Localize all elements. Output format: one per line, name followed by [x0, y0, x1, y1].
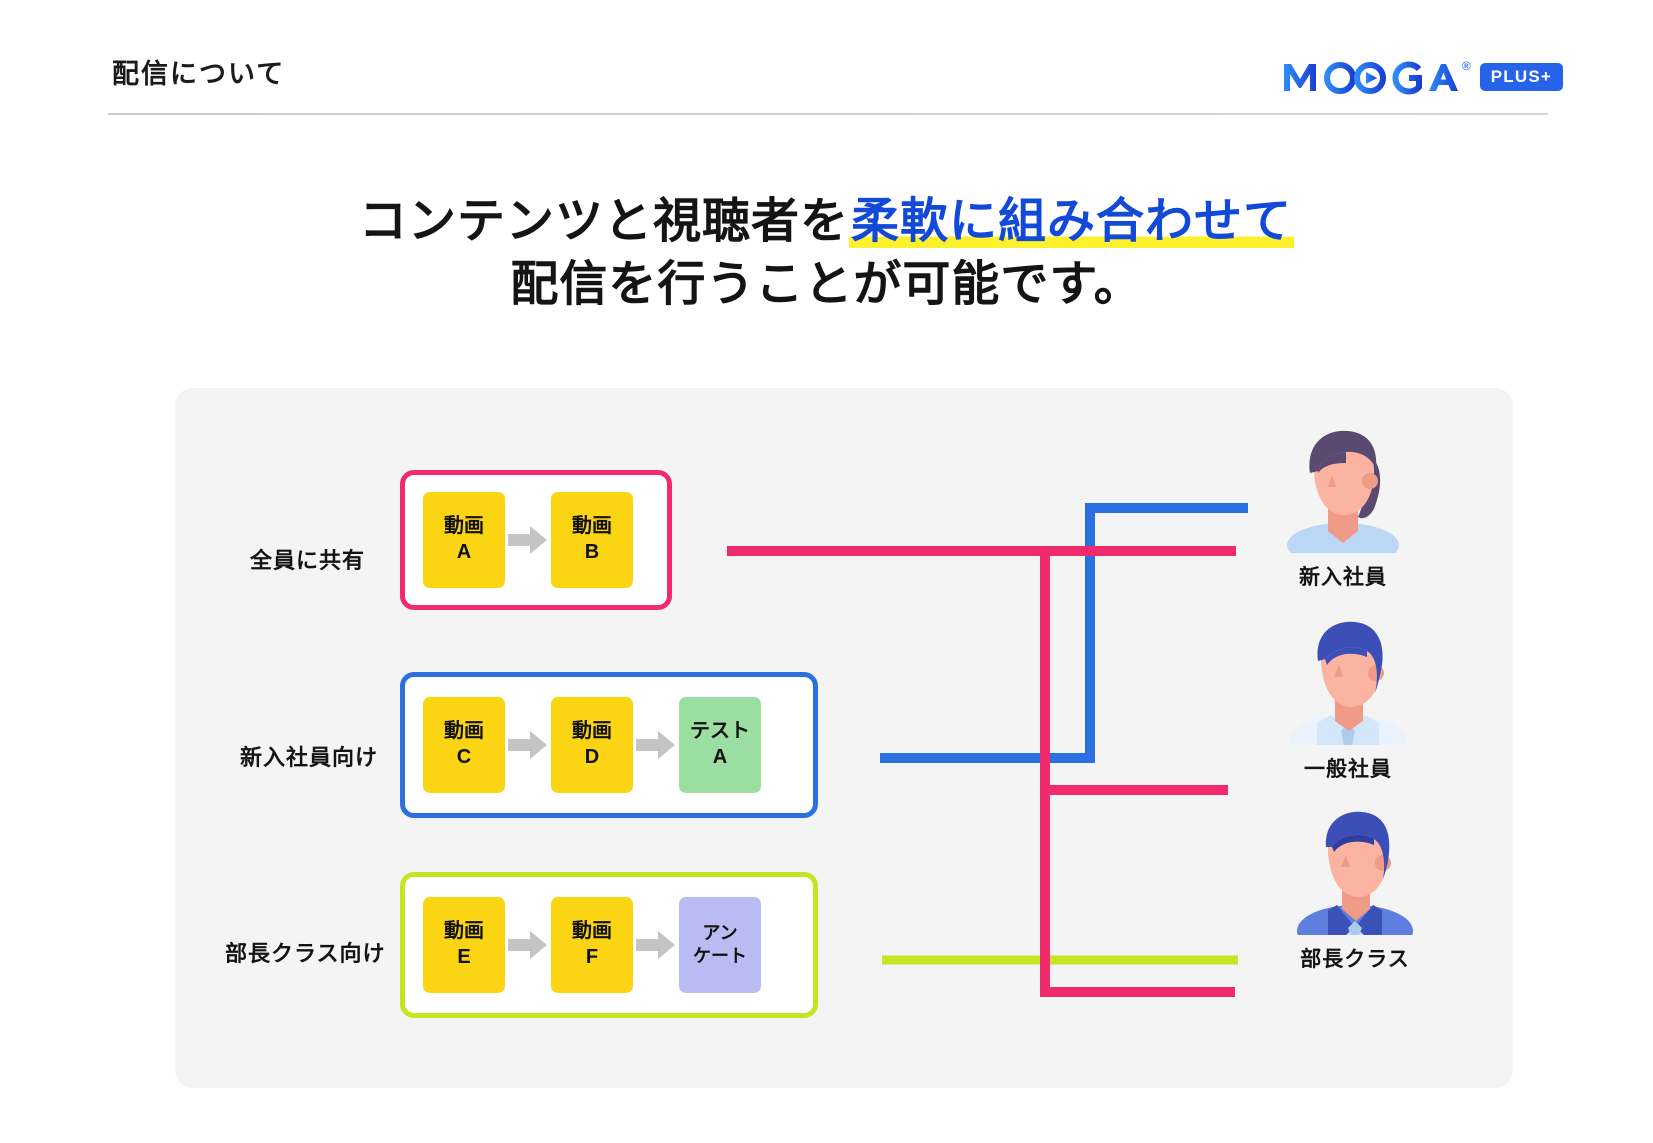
flow-node-line1: 動画	[572, 515, 612, 539]
male-shirt-tie-avatar-icon	[1283, 617, 1413, 745]
flow-node-video-f[interactable]: 動画 F	[551, 897, 633, 993]
flow-node-line1: 動画	[572, 920, 612, 944]
flow-node-line1: 動画	[444, 720, 484, 744]
flow-node-line2: F	[586, 946, 598, 970]
heading-line-1-highlight: 柔軟に組み合わせて	[849, 195, 1294, 248]
flow-node-line2: E	[457, 946, 470, 970]
flow-node-line1: 動画	[444, 515, 484, 539]
arrow-right-icon	[633, 697, 679, 793]
flow-group-newcomers[interactable]: 動画 C 動画 D テスト A	[400, 672, 818, 818]
audience-new-employee: 新入社員	[1253, 425, 1433, 591]
slide-root: 配信について	[0, 0, 1653, 1143]
mooga-logo-icon	[1282, 57, 1460, 97]
registered-mark: ®	[1462, 59, 1471, 73]
flow-node-test-a[interactable]: テスト A	[679, 697, 761, 793]
header-divider	[108, 113, 1548, 115]
flow-node-video-c[interactable]: 動画 C	[423, 697, 505, 793]
flow-node-video-e[interactable]: 動画 E	[423, 897, 505, 993]
audience-label: 一般社員	[1304, 753, 1392, 783]
flow-node-line2: D	[585, 746, 599, 770]
flow-node-line1: 動画	[572, 720, 612, 744]
flow-node-video-b[interactable]: 動画 B	[551, 492, 633, 588]
audience-general-employee: 一般社員	[1258, 617, 1438, 783]
row-label-managers: 部長クラス向け	[225, 936, 386, 968]
logo-plus-badge: PLUS+	[1480, 63, 1563, 91]
slide-heading: コンテンツと視聴者を柔軟に組み合わせて 配信を行うことが可能です。	[0, 190, 1653, 317]
heading-line-1: コンテンツと視聴者を柔軟に組み合わせて	[0, 190, 1653, 253]
page-title: 配信について	[112, 52, 285, 91]
arrow-right-icon	[633, 897, 679, 993]
logo-wordmark: ®	[1282, 57, 1471, 97]
flow-node-line2: B	[585, 541, 599, 565]
flow-node-video-d[interactable]: 動画 D	[551, 697, 633, 793]
flow-node-video-a[interactable]: 動画 A	[423, 492, 505, 588]
audience-manager-class: 部長クラス	[1265, 807, 1445, 973]
audience-label: 新入社員	[1299, 561, 1387, 591]
flow-node-line2: A	[713, 746, 727, 770]
flow-node-line1: テスト	[690, 720, 750, 744]
heading-line-1-plain: コンテンツと視聴者を	[359, 195, 849, 248]
row-label-newcomers: 新入社員向け	[240, 740, 378, 772]
arrow-right-icon	[505, 492, 551, 588]
heading-line-2: 配信を行うことが可能です。	[0, 253, 1653, 316]
flow-node-line2: ケート	[693, 946, 747, 967]
flow-group-managers[interactable]: 動画 E 動画 F アン ケート	[400, 872, 818, 1018]
flow-node-survey[interactable]: アン ケート	[679, 897, 761, 993]
arrow-right-icon	[505, 697, 551, 793]
flow-node-line2: C	[457, 746, 471, 770]
female-ponytail-avatar-icon	[1278, 425, 1408, 553]
flow-node-line2: A	[457, 541, 471, 565]
flow-node-line1: 動画	[444, 920, 484, 944]
slide-header: 配信について	[0, 0, 1653, 122]
audience-label: 部長クラス	[1300, 943, 1410, 973]
arrow-right-icon	[505, 897, 551, 993]
flow-node-line1: アン	[702, 923, 737, 944]
brand-logo: ® PLUS+	[1282, 57, 1563, 97]
flow-group-all[interactable]: 動画 A 動画 B	[400, 470, 672, 610]
male-suit-avatar-icon	[1290, 807, 1420, 935]
row-label-all: 全員に共有	[250, 543, 365, 575]
